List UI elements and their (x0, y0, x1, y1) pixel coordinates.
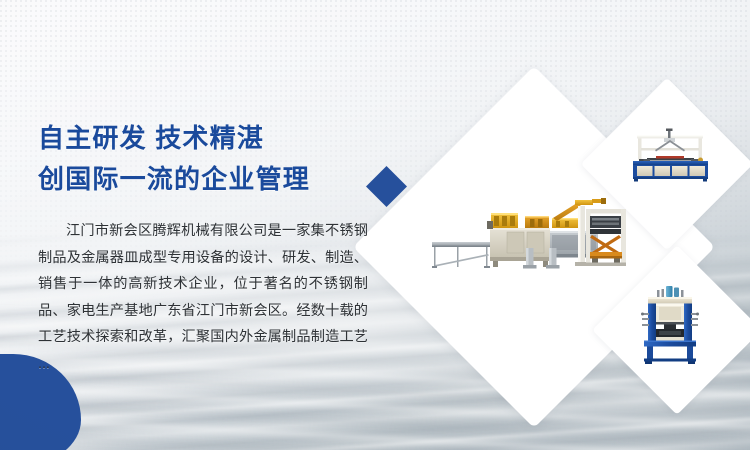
company-description-paragraph: 江门市新会区腾辉机械有限公司是一家集不锈钢制品及金属器皿成型专用设备的设计、研发… (38, 218, 368, 377)
headline-line-1: 自主研发 技术精湛 (38, 118, 378, 158)
top-crossbeam (648, 297, 692, 304)
upper-gantry-frame (637, 129, 703, 160)
scissor-lift-stacker (586, 209, 626, 266)
lower-die-bolster (656, 329, 684, 341)
production-line-illustration (427, 196, 632, 274)
stainless-steel-forming-production-line-image (427, 196, 632, 274)
top-hydraulic-cylinders (657, 286, 684, 297)
press-base-frame (644, 341, 696, 365)
company-profile-banner: 自主研发 技术精湛 创国际一流的企业管理 江门市新会区腾辉机械有限公司是一家集不… (0, 0, 750, 450)
headline-line-2: 创国际一流的企业管理 (38, 159, 378, 199)
conveyor-section (432, 242, 491, 268)
bench-machine-illustration (624, 128, 716, 182)
press-ram-block (656, 304, 684, 329)
hydraulic-forming-press-image (637, 285, 703, 365)
main-cabinet (490, 228, 550, 267)
banner-text-column: 自主研发 技术精湛 创国际一流的企业管理 江门市新会区腾辉机械有限公司是一家集不… (38, 118, 378, 391)
blue-bench-frame (633, 161, 708, 182)
automatic-bench-welding-machine-image (624, 128, 716, 182)
hydraulic-press-illustration (637, 285, 703, 365)
